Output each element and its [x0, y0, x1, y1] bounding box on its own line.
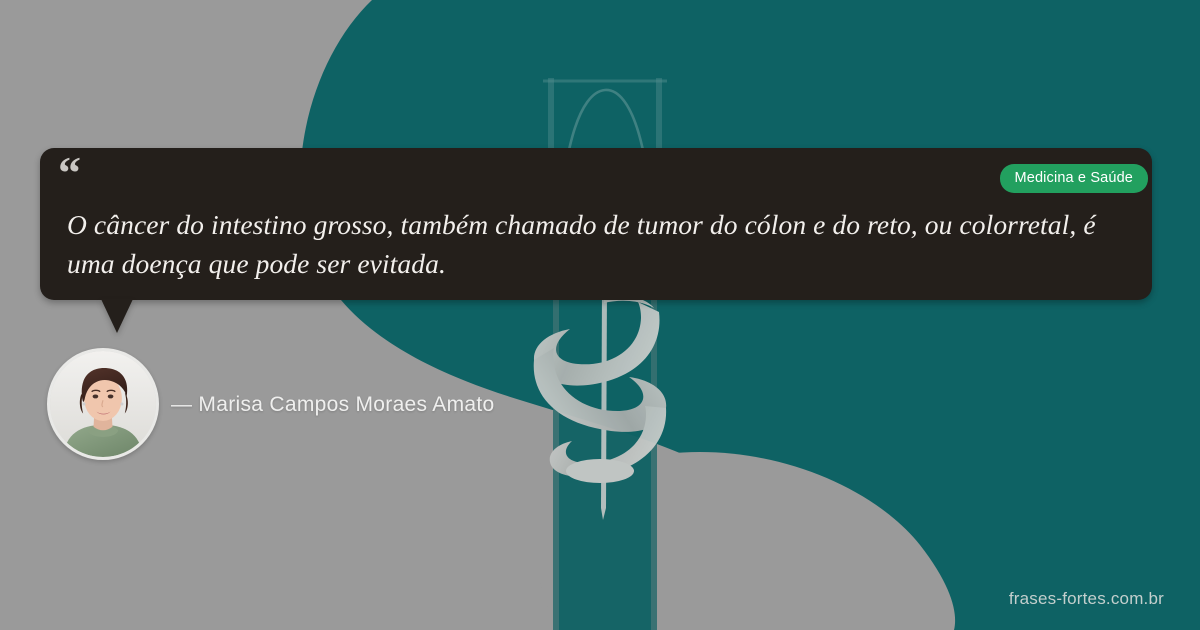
category-badge[interactable]: Medicina e Saúde: [1000, 164, 1148, 193]
quote-card: “ O câncer do intestino grosso, também c…: [0, 0, 1200, 630]
author-name: — Marisa Campos Moraes Amato: [171, 393, 495, 417]
site-watermark: frases-fortes.com.br: [1009, 589, 1164, 609]
author-avatar[interactable]: [47, 348, 159, 460]
serpent-head: [566, 459, 634, 483]
quote-text: O câncer do intestino grosso, também cha…: [67, 205, 1097, 283]
staff-rod: [601, 288, 607, 520]
author-portrait-photo: [50, 351, 156, 457]
background-art: [0, 0, 1200, 630]
open-double-quote-icon: “: [58, 150, 80, 196]
quote-bubble-tail: [101, 299, 133, 333]
